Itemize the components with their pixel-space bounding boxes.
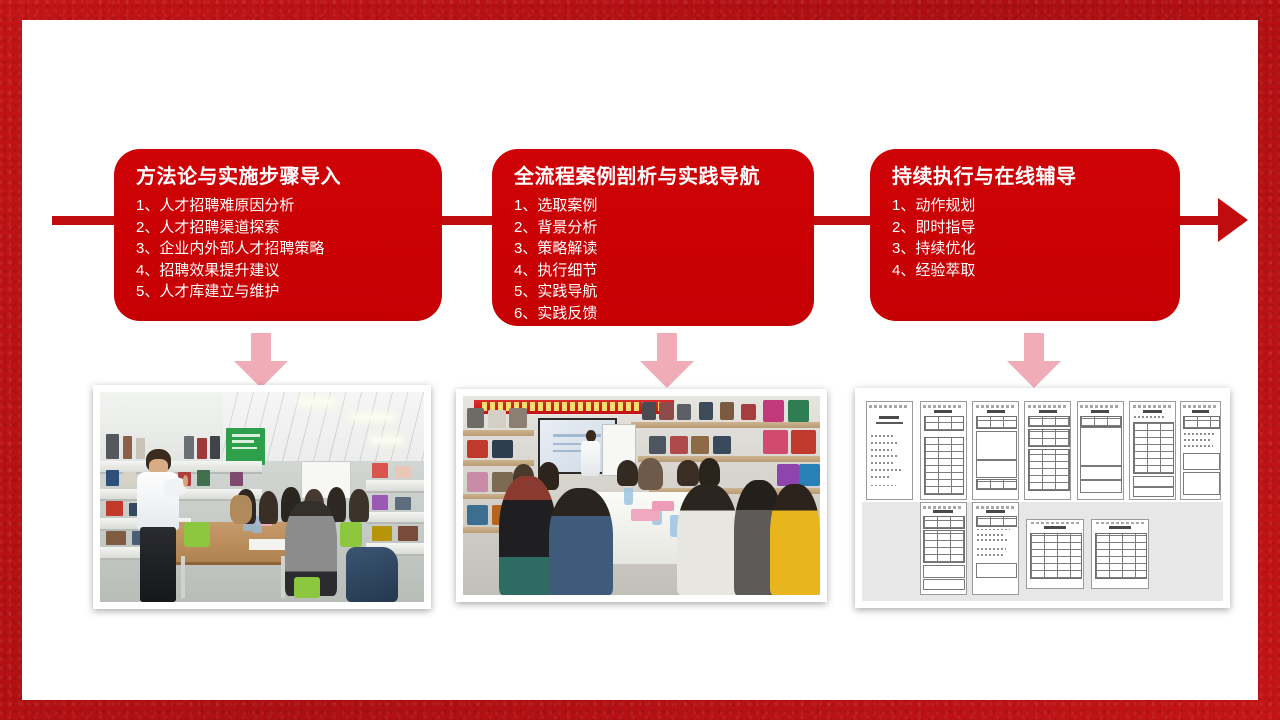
ceiling-light bbox=[353, 415, 392, 419]
product-swatch bbox=[395, 466, 411, 479]
photo-content bbox=[862, 395, 1223, 601]
shelf-goods bbox=[763, 430, 788, 454]
product-swatch bbox=[210, 436, 220, 459]
product-swatch bbox=[106, 470, 119, 487]
stage-card-2[interactable]: 全流程案例剖析与实践导航 1、选取案例 2、背景分析 3、策略解读 4、执行细节… bbox=[492, 149, 814, 326]
product-swatch bbox=[197, 438, 207, 459]
list-item: 4、招聘效果提升建议 bbox=[136, 260, 420, 282]
list-item: 3、企业内外部人才招聘策略 bbox=[136, 238, 420, 260]
shelf bbox=[366, 480, 424, 493]
green-wall-sign bbox=[226, 428, 265, 466]
shelf bbox=[463, 430, 534, 436]
table-leg bbox=[181, 556, 185, 598]
audience-foreground bbox=[770, 484, 820, 595]
down-arrow-head bbox=[234, 361, 288, 388]
stage-card-2-list: 1、选取案例 2、背景分析 3、策略解读 4、执行细节 5、实践导航 6、实践反… bbox=[514, 195, 792, 324]
ceiling-light bbox=[372, 438, 401, 441]
product-swatch bbox=[123, 472, 136, 487]
list-item: 2、背景分析 bbox=[514, 217, 792, 239]
document-page bbox=[972, 502, 1019, 595]
shelf-goods bbox=[467, 440, 488, 458]
shelf-goods bbox=[670, 436, 688, 454]
document-page bbox=[920, 401, 967, 500]
chair bbox=[184, 522, 210, 547]
document-page bbox=[1180, 401, 1222, 500]
shelf-goods bbox=[659, 402, 673, 420]
audience-head bbox=[677, 460, 698, 486]
shelf bbox=[638, 456, 820, 462]
product-swatch bbox=[372, 495, 388, 510]
shelf-goods bbox=[677, 404, 691, 420]
shelf bbox=[366, 512, 424, 525]
document-page bbox=[972, 401, 1019, 500]
document-templates-photo bbox=[855, 388, 1230, 608]
list-item: 5、人才库建立与维护 bbox=[136, 281, 420, 303]
stage-card-3[interactable]: 持续执行与在线辅导 1、动作规划 2、即时指导 3、持续优化 4、经验萃取 bbox=[870, 149, 1180, 321]
down-arrow-icon-2 bbox=[640, 333, 694, 388]
speaker-body bbox=[581, 441, 601, 476]
seated-attendee bbox=[259, 491, 278, 525]
audience-foreground bbox=[549, 488, 613, 595]
water-bottle bbox=[624, 488, 633, 506]
shelf-goods bbox=[763, 400, 784, 422]
document-page bbox=[1091, 519, 1149, 589]
document-page bbox=[866, 401, 913, 500]
audience-foreground bbox=[499, 476, 556, 595]
pink-paper bbox=[631, 509, 660, 521]
product-swatch bbox=[106, 434, 119, 459]
speaker-head bbox=[586, 430, 597, 442]
process-flow-arrow-head bbox=[1218, 198, 1248, 242]
speaker-figure bbox=[581, 430, 601, 476]
paper-document bbox=[249, 539, 285, 550]
product-swatch bbox=[106, 501, 122, 516]
shelf-goods bbox=[467, 472, 488, 492]
list-item: 2、即时指导 bbox=[892, 217, 1158, 239]
document-page bbox=[1129, 401, 1176, 500]
pink-paper bbox=[652, 501, 673, 511]
audience-head bbox=[617, 460, 638, 486]
shelf-goods bbox=[713, 436, 731, 454]
shelf-goods bbox=[642, 402, 656, 420]
document-page bbox=[1026, 519, 1084, 589]
product-swatch bbox=[184, 436, 194, 459]
down-arrow-stem bbox=[1024, 333, 1044, 363]
shelf-goods bbox=[720, 402, 734, 420]
seated-attendee bbox=[349, 489, 368, 523]
list-item: 5、实践导航 bbox=[514, 281, 792, 303]
product-swatch bbox=[106, 531, 125, 546]
down-arrow-stem bbox=[251, 333, 271, 363]
stage-card-1-list: 1、人才招聘难原因分析 2、人才招聘渠道探索 3、企业内外部人才招聘策略 4、招… bbox=[136, 195, 420, 303]
list-item: 1、选取案例 bbox=[514, 195, 792, 217]
shelf-goods bbox=[777, 464, 798, 486]
stage-card-1[interactable]: 方法论与实施步骤导入 1、人才招聘难原因分析 2、人才招聘渠道探索 3、企业内外… bbox=[114, 149, 442, 321]
shelf-goods bbox=[492, 440, 513, 458]
list-item: 3、持续优化 bbox=[892, 238, 1158, 260]
shelf-goods bbox=[788, 400, 809, 422]
stage-card-1-title: 方法论与实施步骤导入 bbox=[136, 165, 420, 190]
product-swatch bbox=[398, 526, 417, 541]
down-arrow-stem bbox=[657, 333, 677, 363]
workshop-audience-photo bbox=[456, 389, 827, 602]
list-item: 4、执行细节 bbox=[514, 260, 792, 282]
document-page bbox=[920, 502, 967, 595]
audience-head bbox=[638, 458, 663, 490]
list-item: 1、人才招聘难原因分析 bbox=[136, 195, 420, 217]
shelf-goods bbox=[509, 408, 527, 428]
down-arrow-head bbox=[1007, 361, 1061, 388]
shelf-goods bbox=[488, 410, 506, 428]
stage-card-3-title: 持续执行与在线辅导 bbox=[892, 165, 1158, 190]
product-swatch bbox=[372, 526, 391, 541]
slide-canvas: 方法论与实施步骤导入 1、人才招聘难原因分析 2、人才招聘渠道探索 3、企业内外… bbox=[22, 20, 1258, 700]
down-arrow-head bbox=[640, 361, 694, 388]
ceiling-light bbox=[301, 400, 333, 403]
shelf-goods bbox=[467, 505, 488, 525]
shelf-goods bbox=[791, 430, 816, 454]
shelf-goods bbox=[691, 436, 709, 454]
document-page bbox=[1077, 401, 1124, 500]
stage-card-2-title: 全流程案例剖析与实践导航 bbox=[514, 165, 792, 190]
shelf-goods bbox=[741, 404, 755, 420]
training-classroom-photo bbox=[93, 385, 431, 609]
document-page bbox=[1024, 401, 1071, 500]
shelf-goods bbox=[699, 402, 713, 420]
product-swatch bbox=[395, 497, 411, 510]
audience-head bbox=[699, 458, 720, 486]
product-swatch bbox=[230, 472, 243, 487]
chair bbox=[294, 577, 320, 598]
product-swatch bbox=[197, 470, 210, 487]
shelf-goods bbox=[467, 408, 485, 428]
shelf-goods bbox=[649, 436, 667, 454]
slide-background: 方法论与实施步骤导入 1、人才招聘难原因分析 2、人才招聘渠道探索 3、企业内外… bbox=[0, 0, 1280, 720]
photo-content bbox=[463, 396, 820, 595]
down-arrow-icon-3 bbox=[1007, 333, 1061, 388]
presenter-figure bbox=[136, 449, 181, 602]
presenter-pants bbox=[140, 527, 175, 602]
stage-card-3-list: 1、动作规划 2、即时指导 3、持续优化 4、经验萃取 bbox=[892, 195, 1158, 281]
product-swatch bbox=[372, 463, 388, 478]
list-item: 1、动作规划 bbox=[892, 195, 1158, 217]
list-item: 2、人才招聘渠道探索 bbox=[136, 217, 420, 239]
shelf-goods bbox=[799, 464, 820, 486]
shelf bbox=[631, 422, 820, 428]
list-item: 4、经验萃取 bbox=[892, 260, 1158, 282]
audience-foreground bbox=[677, 484, 738, 595]
seated-attendee bbox=[230, 495, 253, 524]
down-arrow-icon-1 bbox=[234, 333, 288, 388]
product-swatch bbox=[123, 436, 133, 459]
photo-content bbox=[100, 392, 424, 602]
draped-jacket bbox=[346, 547, 398, 602]
list-item: 3、策略解读 bbox=[514, 238, 792, 260]
chair bbox=[340, 522, 363, 547]
list-item: 6、实践反馈 bbox=[514, 303, 792, 325]
